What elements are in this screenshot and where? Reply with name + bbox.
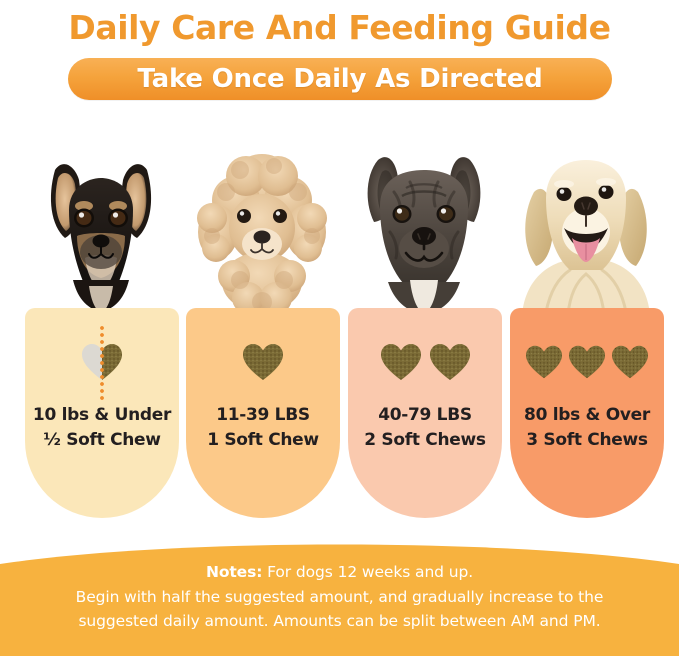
dosage-card-3: 40-79 LBS 2 Soft Chews xyxy=(348,308,502,518)
half-cut-dotted-line xyxy=(100,326,104,400)
weight-range-3: 40-79 LBS xyxy=(348,403,502,428)
directions-banner: Take Once Daily As Directed xyxy=(68,58,612,100)
guide-column-2: 11-39 LBS 1 Soft Chew xyxy=(182,140,342,530)
dosage-text-2: 11-39 LBS 1 Soft Chew xyxy=(186,403,340,453)
notes-line-3: suggested daily amount. Amounts can be s… xyxy=(0,609,679,634)
dosage-card-4: 80 lbs & Over 3 Soft Chews xyxy=(510,308,664,518)
guide-column-3: 40-79 LBS 2 Soft Chews xyxy=(344,140,504,530)
soft-chew xyxy=(242,342,284,382)
weight-range-4: 80 lbs & Over xyxy=(510,403,664,428)
dose-amount-1: ½ Soft Chew xyxy=(25,428,179,453)
notes-line-1: Notes: For dogs 12 weeks and up. xyxy=(0,560,679,585)
guide-column-4: 80 lbs & Over 3 Soft Chews xyxy=(506,140,666,530)
chihuahua-photo xyxy=(21,140,181,315)
chew-illustration-3 xyxy=(348,330,502,394)
dosage-text-3: 40-79 LBS 2 Soft Chews xyxy=(348,403,502,453)
weight-range-1: 10 lbs & Under xyxy=(25,403,179,428)
french-bulldog-photo xyxy=(344,140,504,315)
soft-chew xyxy=(568,344,606,380)
soft-chew xyxy=(525,344,563,380)
half-soft-chew xyxy=(81,342,123,382)
weight-range-2: 11-39 LBS xyxy=(186,403,340,428)
dose-amount-4: 3 Soft Chews xyxy=(510,428,664,453)
dosage-card-2: 11-39 LBS 1 Soft Chew xyxy=(186,308,340,518)
chew-illustration-2 xyxy=(186,330,340,394)
soft-chew xyxy=(429,342,471,382)
dose-amount-3: 2 Soft Chews xyxy=(348,428,502,453)
notes-text: Notes: For dogs 12 weeks and up. Begin w… xyxy=(0,560,679,634)
directions-banner-label: Take Once Daily As Directed xyxy=(137,66,542,92)
page-title: Daily Care And Feeding Guide xyxy=(0,8,679,48)
dosage-text-4: 80 lbs & Over 3 Soft Chews xyxy=(510,403,664,453)
golden-retriever-photo xyxy=(506,140,666,315)
chew-illustration-4 xyxy=(510,330,664,394)
notes-label: Notes: xyxy=(206,563,262,581)
notes-line-1-rest: For dogs 12 weeks and up. xyxy=(262,563,473,581)
guide-column-1: 10 lbs & Under ½ Soft Chew xyxy=(21,140,181,530)
chew-illustration-1 xyxy=(25,330,179,394)
dosage-text-1: 10 lbs & Under ½ Soft Chew xyxy=(25,403,179,453)
poodle-photo xyxy=(182,140,342,315)
dosage-card-1: 10 lbs & Under ½ Soft Chew xyxy=(25,308,179,518)
notes-line-2: Begin with half the suggested amount, an… xyxy=(0,585,679,610)
soft-chew xyxy=(380,342,422,382)
dose-amount-2: 1 Soft Chew xyxy=(186,428,340,453)
soft-chew xyxy=(611,344,649,380)
feeding-guide-page: Daily Care And Feeding Guide Take Once D… xyxy=(0,0,679,656)
notes-banner: Notes: For dogs 12 weeks and up. Begin w… xyxy=(0,544,679,656)
